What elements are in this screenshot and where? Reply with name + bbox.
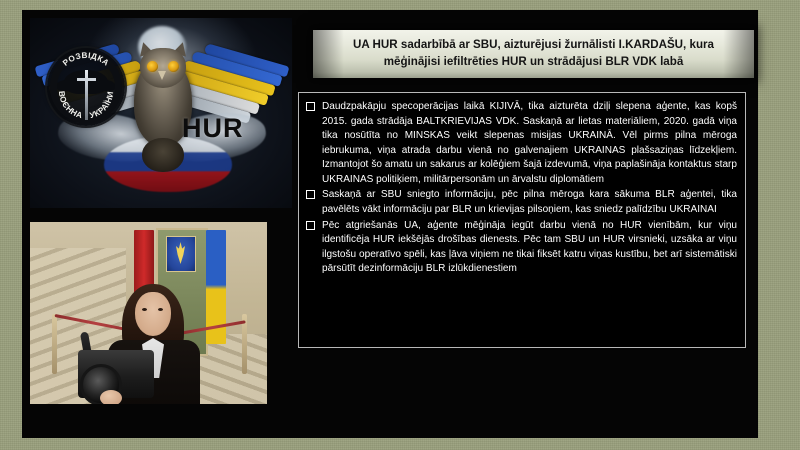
hur-owl-emblem-image: РОЗВІДКА ВОЄННА УКРАЇНИ HUR [30,18,292,208]
slide-title: UA HUR sadarbībā ar SBU, aizturējusi žur… [313,37,754,71]
photo-subject-face [135,292,171,336]
bullet-square-icon [306,190,315,199]
slide-title-box: UA HUR sadarbībā ar SBU, aizturējusi žur… [313,30,754,78]
list-item: Daudzpakāpju specoperācijas laikā KIJIVĀ… [305,100,737,187]
badge-sword-icon [85,70,88,120]
bullet-text: Daudzpakāpju specoperācijas laikā KIJIVĀ… [322,101,737,185]
owl-eye-left [147,61,158,72]
bullet-square-icon [306,102,315,111]
photo-rope-post-1 [52,314,57,374]
photo-subject-eye-right [158,308,163,311]
list-item: Pēc atgriešanās UA, aģente mēģināja iegū… [305,219,737,277]
bullet-text: Saskaņā ar SBU sniegto informāciju, pēc … [322,189,737,215]
slide-body-textbox: Daudzpakāpju specoperācijas laikā KIJIVĀ… [298,92,746,348]
owl-beak [158,71,166,80]
presentation-slide: РОЗВІДКА ВОЄННА УКРАЇНИ HUR [0,0,800,450]
list-item: Saskaņā ar SBU sniegto informāciju, pēc … [305,188,737,217]
hur-circular-badge: РОЗВІДКА ВОЄННА УКРАЇНИ [47,48,125,126]
journalist-with-camera-photo [30,222,267,404]
photo-subject-hand [100,390,122,404]
bullet-list: Daudzpakāpju specoperācijas laikā KIJIVĀ… [305,100,737,277]
ukrainian-trident-emblem-icon [166,236,196,272]
hur-label: HUR [182,113,244,144]
owl-eye-right [168,61,179,72]
bullet-text: Pēc atgriešanās UA, aģente mēģināja iegū… [322,220,737,275]
photo-subject-eye-left [142,308,147,311]
owl-small-silhouette [142,138,184,172]
bullet-square-icon [306,221,315,230]
badge-arc-top-text: РОЗВІДКА [61,51,111,68]
badge-arc-bottom-right-text: УКРАЇНИ [89,91,116,121]
badge-arc-bottom-left-text: ВОЄННА [57,91,84,121]
